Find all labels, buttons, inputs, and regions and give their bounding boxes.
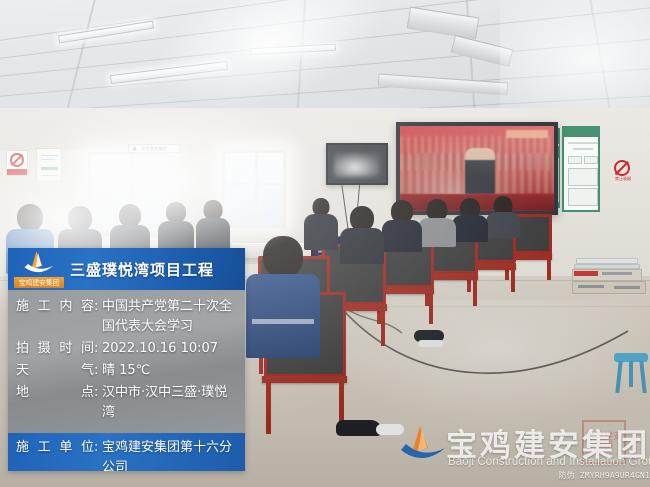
info-row-weather-colon: :	[94, 361, 102, 381]
info-row-time: 拍摄时间 : 2022.10.16 10:07	[16, 339, 239, 359]
company-logo-label: 宝鸡建安集团	[14, 277, 64, 288]
watermark-code-label: 防伪	[558, 471, 574, 480]
no-smoking-sign-right: 禁止吸烟	[614, 160, 630, 176]
attendee	[340, 206, 384, 264]
watermark: 宝鸡建安集团 宝鸡建安集团 Baoji Construction and Ins…	[398, 412, 650, 484]
info-panel-body: 施工内容 : 中国共产党第二十次全国代表大会学习 拍摄时间 : 2022.10.…	[8, 290, 245, 433]
info-row-location: 地点 : 汉中市·汉中三盛·璞悦湾	[16, 383, 239, 423]
sail-logo-icon	[22, 251, 56, 277]
no-smoking-label-right: 禁止吸烟	[608, 176, 638, 182]
attendee	[418, 199, 456, 247]
watermark-code: 防伪 ZMYRH9A9UR4GN1	[558, 470, 650, 481]
info-row-content: 施工内容 : 中国共产党第二十次全国代表大会学习	[16, 297, 239, 337]
info-row-location-value: 汉中市·汉中三盛·璞悦湾	[102, 383, 239, 423]
info-row-unit-value: 宝鸡建安集团第十六分公司	[102, 438, 239, 471]
window-mid	[222, 150, 286, 228]
watermark-code-value: ZMYRH9A9UR4GN1	[580, 471, 650, 480]
attendee	[196, 200, 230, 250]
sail-logo-icon	[400, 426, 446, 466]
ceiling-beam	[378, 73, 509, 95]
info-panel-header: 宝鸡建安集团 三盛璞悦湾项目工程	[8, 248, 245, 290]
info-row-weather-value: 晴 15℃	[102, 361, 239, 381]
attendee	[158, 202, 194, 254]
info-panel-footer: 施工单位 : 宝鸡建安集团第十六分公司	[8, 433, 245, 471]
info-row-time-label: 拍摄时间	[16, 339, 94, 359]
info-row-content-colon: :	[94, 297, 102, 317]
info-row-unit-label: 施工单位	[16, 438, 94, 458]
info-row-weather-label: 天气	[16, 361, 94, 381]
screenshot-root: 宝鸡建安集团	[0, 0, 650, 487]
sail-logo-icon	[132, 145, 139, 152]
wall-poster-left	[36, 148, 62, 182]
box-stack	[572, 258, 644, 298]
info-row-time-colon: :	[94, 339, 102, 359]
info-row-content-value: 中国共产党第二十次全国代表大会学习	[102, 297, 239, 337]
plastic-stool	[614, 353, 648, 393]
info-row-location-label: 地点	[16, 383, 94, 403]
photo-info-overlay: 宝鸡建安集团 三盛璞悦湾项目工程 施工内容 : 中国共产党第二十次全国代表大会学…	[8, 248, 245, 471]
attendee	[382, 200, 422, 252]
wall-mounted-tv	[326, 143, 388, 185]
company-logo: 宝鸡建安集团	[8, 248, 70, 290]
uniform-reflective-stripe	[252, 319, 314, 324]
wall-brand-sign-label: 宝鸡建安集团	[141, 146, 167, 152]
project-title: 三盛璞悦湾项目工程	[70, 259, 245, 280]
shoe-sole	[418, 340, 444, 347]
info-row-weather: 天气 : 晴 15℃	[16, 361, 239, 381]
info-row-location-colon: :	[94, 383, 102, 403]
ceiling	[0, 0, 650, 118]
watermark-english-name: Baoji Construction and Installation Grou…	[448, 456, 650, 468]
no-smoking-sign-left	[6, 150, 28, 176]
info-row-unit-colon: :	[94, 438, 102, 458]
info-row-time-value: 2022.10.16 10:07	[102, 339, 239, 359]
wall-brand-sign: 宝鸡建安集团	[128, 144, 180, 153]
info-row-unit: 施工单位 : 宝鸡建安集团第十六分公司	[16, 438, 239, 471]
info-row-content-label: 施工内容	[16, 297, 94, 317]
attendee	[452, 198, 488, 242]
foreground-worker	[246, 236, 320, 358]
info-board-2	[562, 126, 600, 212]
attendee	[486, 196, 520, 238]
